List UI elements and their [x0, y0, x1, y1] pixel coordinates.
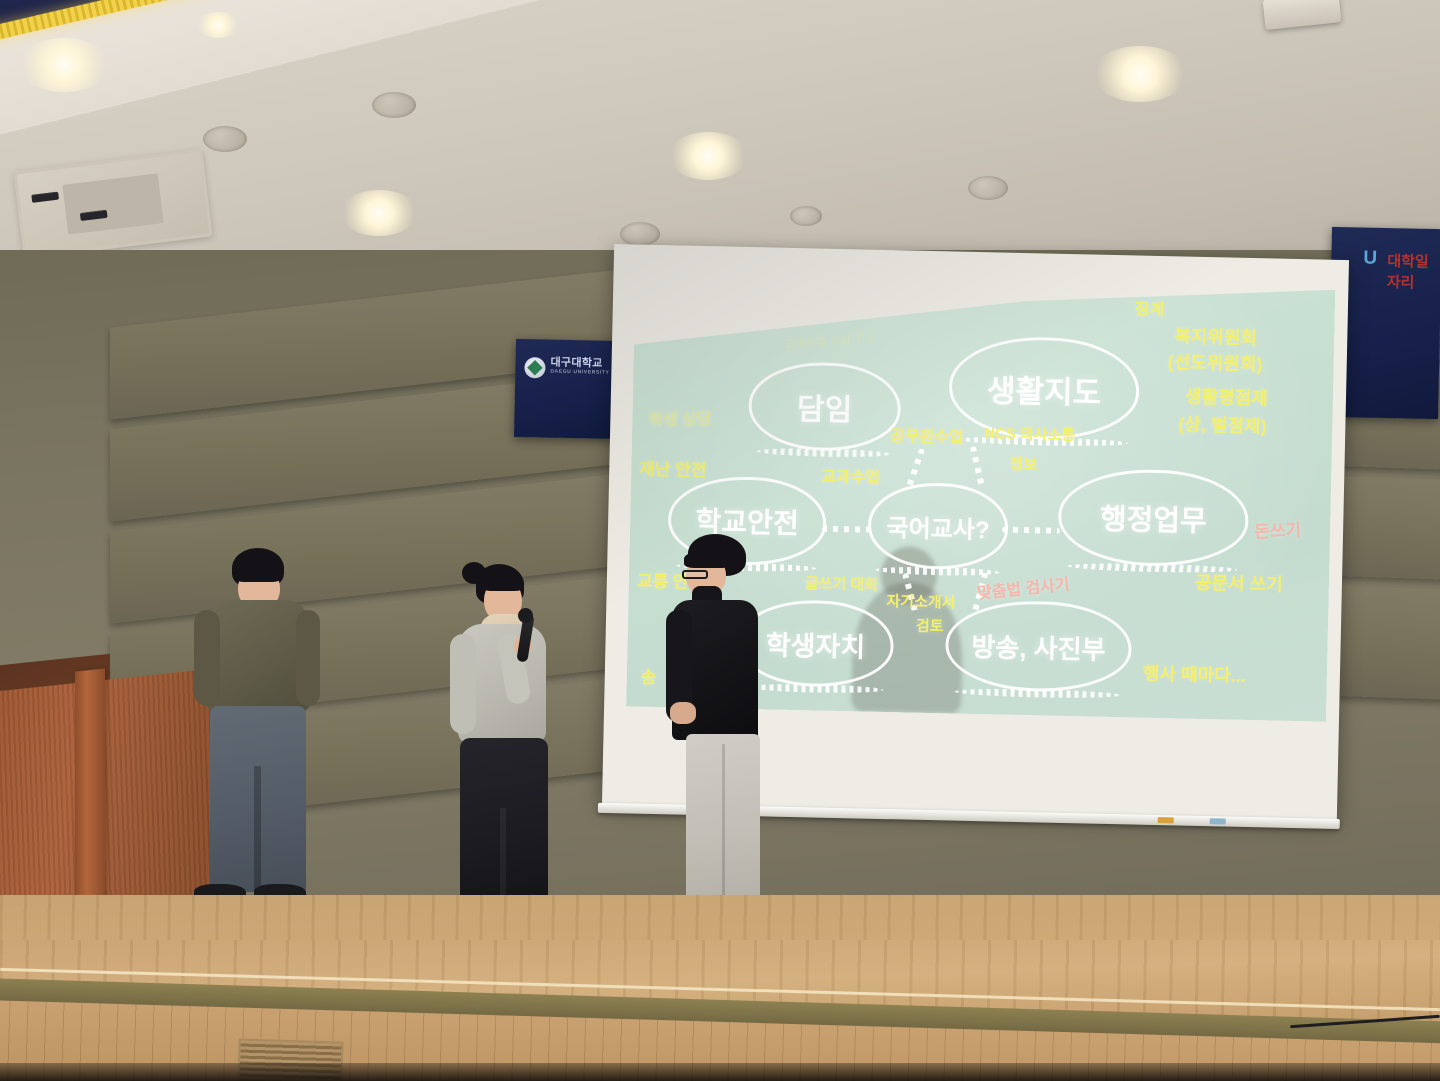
tag-partial-bottom: 송: [641, 663, 657, 688]
tag-seondo-wiwonhoe: (선도위원회): [1167, 348, 1262, 376]
tag-don-sseugi: 돈쓰기: [1254, 515, 1302, 542]
tag-jinggye: 징계: [1135, 295, 1165, 320]
tag-gongmunseo-sseugi: 공문서 쓰기: [1195, 569, 1283, 597]
presenter-1-left-sleeve: [194, 610, 220, 706]
presenter-3-fringe: [684, 550, 732, 568]
presenter-1-fringe: [235, 564, 281, 582]
microphone-head-icon: [518, 608, 533, 623]
tag-jeongbo: 정보: [1009, 453, 1037, 475]
presenter-2-leg-gap: [500, 808, 506, 908]
presenter-2-fringe: [482, 575, 524, 591]
bubble-haengjeong-eommu: 행정업무: [1057, 468, 1249, 568]
banner-left-text: 대구대학교 DAEGU UNIVERSITY: [550, 357, 609, 377]
tag-haengsa-ttaemada: 행사 때마다...: [1143, 660, 1246, 688]
bubble-saenghwal-jido-label: 생활지도: [987, 365, 1102, 412]
bubble-bangsong-sajinbu: 방송, 사진부: [945, 599, 1133, 693]
ceiling-speaker: [620, 222, 660, 246]
banner-left-name: 대구대학교: [550, 357, 602, 370]
bubble-haksaeng-jachi-label: 학생자치: [765, 623, 865, 664]
connector-dots-right: [1002, 527, 1060, 534]
ceiling-speaker: [203, 126, 247, 152]
foreground-shadow: [0, 1063, 1440, 1081]
ceiling-downlight: [196, 12, 240, 38]
u-logo-icon: U: [1363, 248, 1377, 270]
presenter-1-sweater: [206, 600, 310, 712]
slide-stitched-border: [626, 267, 1335, 329]
tag-sang-beoljeomje: (상, 벌점제): [1178, 410, 1267, 438]
presenter-3: [664, 534, 774, 926]
ac-inner-panel: [63, 174, 164, 234]
auditorium-scene: 대구대학교 DAEGU UNIVERSITY U 대학일자리 교과수업 상담 지…: [0, 0, 1440, 1081]
presenter-3-glasses-icon: [682, 570, 708, 579]
tag-bokji-wiwonhoe: 복지위원회: [1174, 322, 1257, 350]
connector-dots-left: [822, 526, 870, 533]
banner-left-subtitle: DAEGU UNIVERSITY: [550, 369, 609, 376]
banner-left: 대구대학교 DAEGU UNIVERSITY: [514, 339, 626, 439]
acoustic-wall-panel: [1338, 586, 1440, 700]
ceiling-downlight: [18, 38, 110, 92]
bubble-haengjeong-eommu-label: 행정업무: [1100, 496, 1208, 540]
screen-bar-sticker: [1210, 818, 1226, 824]
tag-matchumbeop-geomsagi: 맞춤법 검사기: [976, 570, 1071, 603]
ceiling-air-conditioner: [13, 149, 212, 259]
ceiling-projector: [1263, 0, 1342, 30]
presenter-1-right-sleeve: [296, 610, 320, 706]
tag-ncs-uisasotong: NCS 의사소통: [984, 422, 1075, 445]
tag-geulsseugi-daehoe: 글쓰기 대회: [805, 572, 879, 595]
bubble-gugeo-gyosa-label: 국어교사?: [886, 508, 990, 545]
banner-right-name: 대학일자리: [1387, 250, 1440, 293]
tag-jagisogaeseo: 자기소개서: [886, 590, 955, 613]
ceiling-speaker: [790, 206, 822, 226]
bubble-damim: 담임: [748, 361, 902, 452]
presenter-2-left-sleeve: [450, 634, 476, 734]
university-emblem-icon: [524, 357, 545, 378]
presenter-1: [188, 548, 318, 908]
tag-saenghwal-pyeongjeomje: 생활평점제: [1185, 383, 1268, 411]
ceiling-downlight: [340, 190, 418, 236]
slide-clipped-title: 교과수업 상담 지도: [784, 329, 877, 352]
presenter-2: [440, 558, 560, 914]
ceiling-downlight: [668, 132, 748, 180]
connector-dots-up-right: [970, 446, 985, 488]
bubble-bangsong-sajinbu-label: 방송, 사진부: [971, 626, 1106, 666]
presenter-3-hands: [670, 702, 696, 724]
presenter-1-leg-gap: [254, 766, 261, 894]
slide-stitched-border-edge: [626, 269, 1335, 331]
presenter-3-leg-seam: [722, 744, 725, 906]
ac-vent-blade: [31, 192, 59, 203]
tag-geomto: 검토: [916, 615, 944, 637]
ceiling-downlight: [1092, 46, 1188, 102]
tag-gyogwa-sueop: 교과수업: [821, 463, 880, 488]
ceiling-speaker: [372, 92, 416, 118]
screen-bar-sticker: [1158, 817, 1174, 823]
bubble-damim-label: 담임: [797, 384, 853, 429]
tag-haksaeng-sangdam: 학생 상담: [648, 405, 712, 431]
ceiling-speaker: [968, 176, 1008, 200]
tag-gongmuwon-sueop: 공무원수업: [890, 422, 964, 448]
acoustic-wall-panel: [1338, 476, 1440, 580]
tag-jaenan-anjeon: 재난 안전: [639, 455, 707, 481]
